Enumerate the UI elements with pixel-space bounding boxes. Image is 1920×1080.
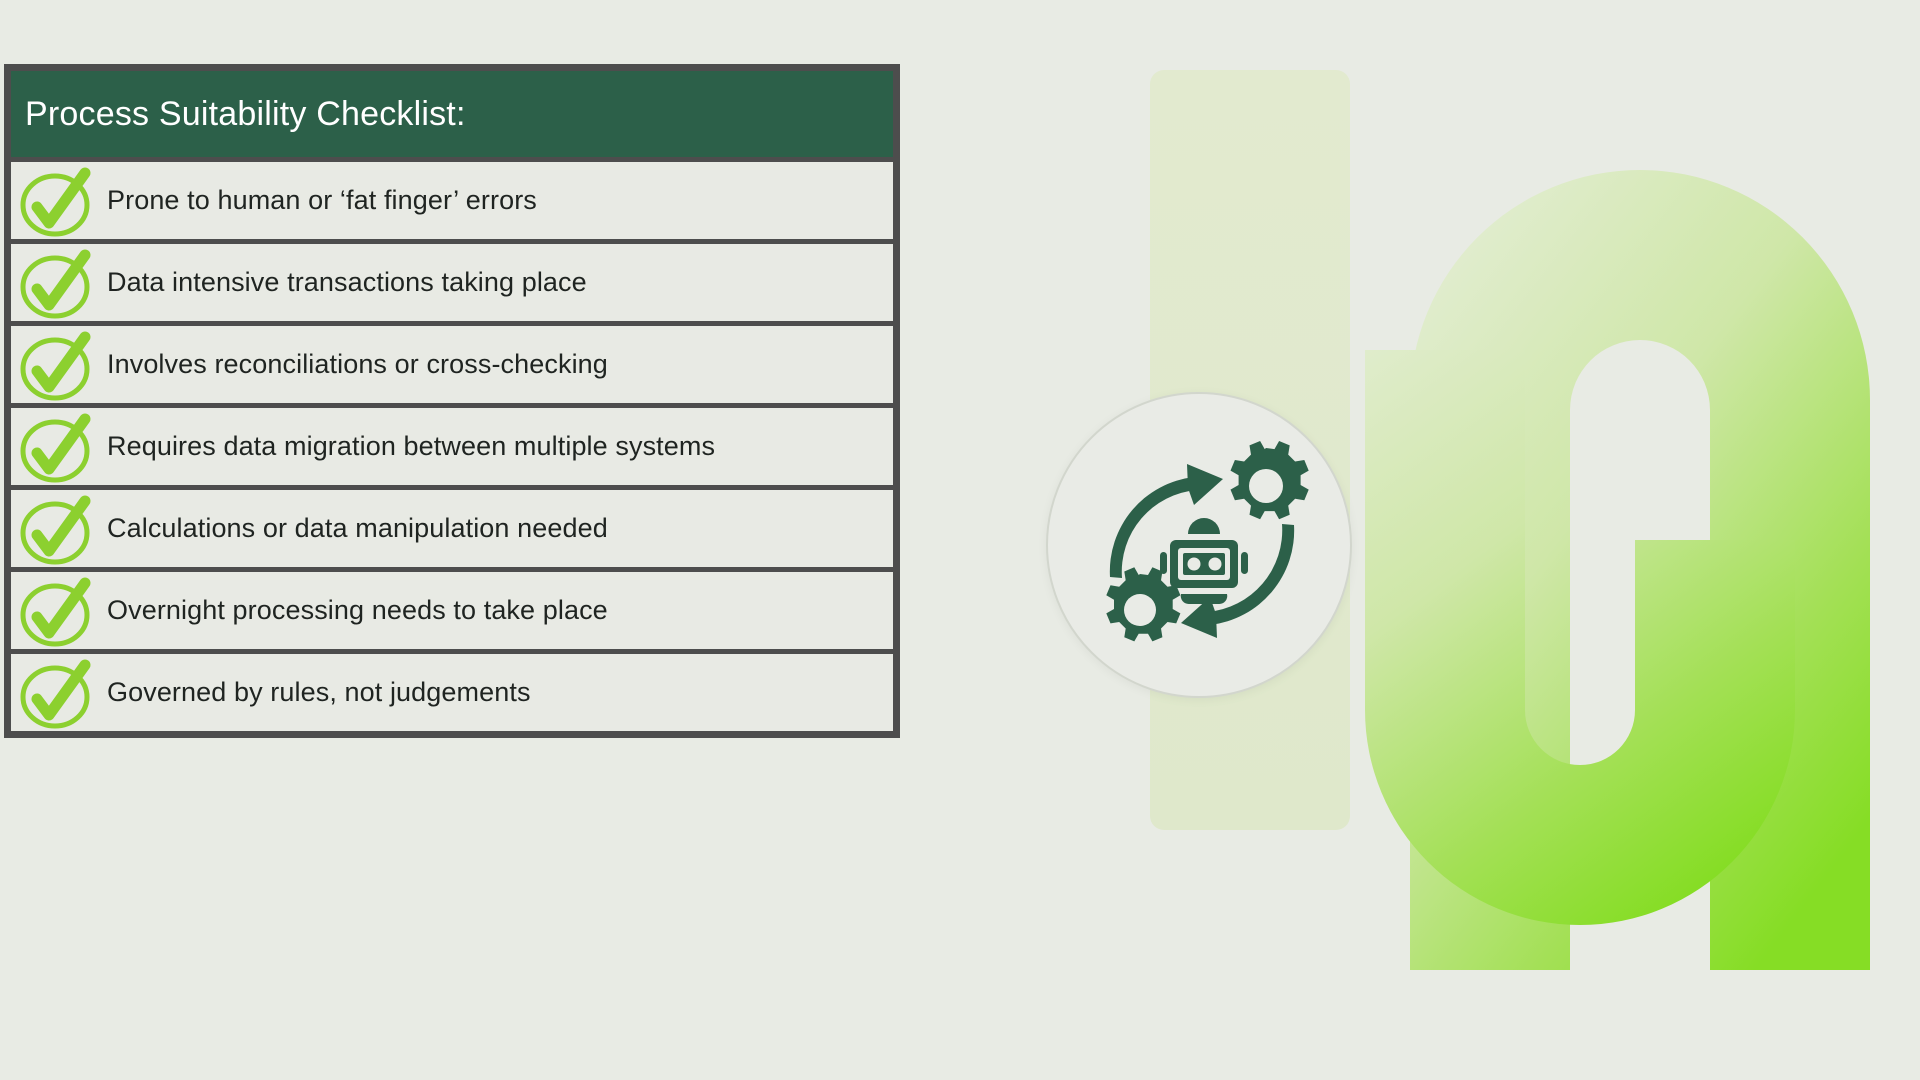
checklist-item-label: Overnight processing needs to take place [107, 595, 608, 626]
green-check-circle-icon [17, 491, 99, 567]
checklist-row[interactable]: Requires data migration between multiple… [11, 403, 893, 485]
green-check-circle-icon [17, 655, 99, 731]
green-check-circle-icon [17, 573, 99, 649]
checklist-row[interactable]: Involves reconciliations or cross-checki… [11, 321, 893, 403]
checklist-item-label: Governed by rules, not judgements [107, 677, 531, 708]
checklist-row[interactable]: Calculations or data manipulation needed [11, 485, 893, 567]
automation-badge [1046, 392, 1352, 698]
green-check-circle-icon [17, 409, 99, 485]
checklist-item-label: Data intensive transactions taking place [107, 267, 587, 298]
checklist-row[interactable]: Data intensive transactions taking place [11, 239, 893, 321]
slide-canvas: Process Suitability Checklist: Prone to … [0, 0, 1920, 1080]
checklist-title: Process Suitability Checklist: [25, 95, 466, 134]
checklist-row[interactable]: Overnight processing needs to take place [11, 567, 893, 649]
checklist-item-label: Requires data migration between multiple… [107, 431, 715, 462]
process-suitability-checklist: Process Suitability Checklist: Prone to … [4, 64, 900, 738]
checklist-header: Process Suitability Checklist: [11, 71, 893, 157]
checklist-item-label: Prone to human or ‘fat finger’ errors [107, 185, 537, 216]
green-check-circle-icon [17, 163, 99, 239]
checklist-row[interactable]: Prone to human or ‘fat finger’ errors [11, 157, 893, 239]
checklist-item-label: Involves reconciliations or cross-checki… [107, 349, 608, 380]
checklist-rows: Prone to human or ‘fat finger’ errors Da… [11, 157, 893, 731]
checklist-row[interactable]: Governed by rules, not judgements [11, 649, 893, 731]
green-check-circle-icon [17, 245, 99, 321]
robot-automation-gears-icon [1106, 441, 1308, 641]
checklist-item-label: Calculations or data manipulation needed [107, 513, 608, 544]
green-check-circle-icon [17, 327, 99, 403]
